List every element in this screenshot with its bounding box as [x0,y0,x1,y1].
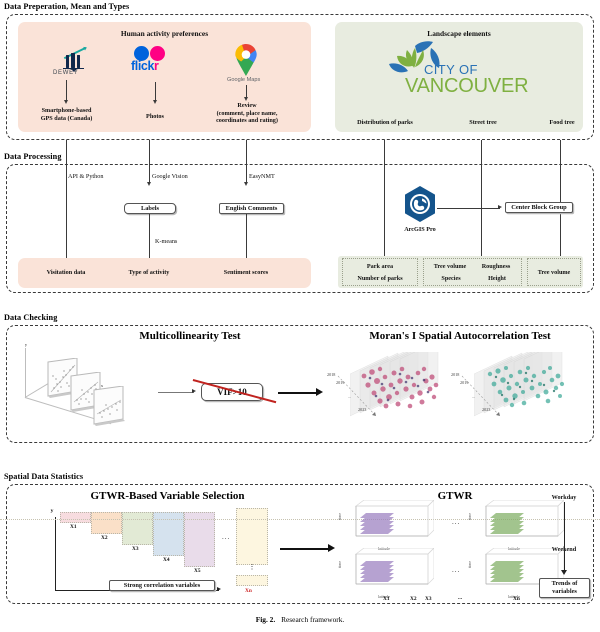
label-height: Height [474,275,520,283]
box-title-landscape-elements: Landscape elements [335,29,583,38]
label-sentiment-scores: Sentiment scores [206,269,286,277]
node-vif-threshold[interactable]: VIF>10 [201,383,263,401]
label-kmeans: K-means [155,238,199,246]
connector-arcgis-to-block-group [437,208,500,209]
node-strong-correlation-variables[interactable]: Strong correlation variables [109,580,215,591]
connector-workday-to-trends [564,502,565,572]
gtwr-column-x3 [122,512,153,545]
label-y-axis: y [48,508,56,516]
label-park-area: Park area [342,263,418,271]
figure-caption: Fig. 2. Research framework. [0,615,600,624]
section-title-data-processing: Data Processing [4,152,62,161]
axis-y-vertical [55,517,56,590]
mc-axis-label-y: y [21,341,31,349]
node-trends-of-variables[interactable]: Trends of variables [539,578,590,598]
gtwr-final-column [236,508,268,565]
gtwr-columns-ellipsis: ... [222,533,230,541]
gtwr-cube-3-axis-time: time [337,561,342,568]
label-tree-volume-street: Tree volume [424,263,476,271]
moran-green-ellipsis: ... [472,394,475,399]
connector-dewey [66,80,67,102]
arrowhead-vif-to-moran [316,388,323,396]
label-type-of-activity: Type of activity [112,269,186,277]
label-distribution-of-parks: Distribution of parks [340,119,430,127]
google-maps-logo-text: Google Maps [227,77,260,83]
section-title-data-checking: Data Checking [4,313,57,322]
connector-selection-to-gtwr [280,548,330,550]
title-multicollinearity-test: Multicollinearity Test [105,330,275,342]
research-framework-figure: Data Preperation, Mean and Types Human a… [0,0,600,632]
gtwr-cube-workday-green [472,500,564,548]
label-street-tree: Street tree [452,119,514,127]
label-method-google-vision: Google Vision [152,173,208,181]
label-food-tree: Food tree [533,119,591,127]
arcgis-pro-logo [404,186,436,222]
connector-vif-to-moran [278,392,318,394]
label-google-maps-output: Review (comment, place name, coordinates… [196,102,298,125]
flickr-logo-text: flickr [131,59,158,73]
section-title-spatial-statistics: Spatial Data Statistics [4,472,83,481]
moran-pink-year-2018: 2018 [327,372,335,377]
dewey-logo-text: DEWEY [53,70,79,76]
gtwr-label-x4: X4 [163,557,170,563]
connector-parks [384,140,385,268]
moran-green-year-2019: 2019 [460,380,468,385]
figure-caption-text: Research framework. [281,615,344,624]
gtwr-cube-workday-purple [342,500,434,548]
gtwr-column-x1 [60,512,91,523]
label-visitation-data: Visitation data [26,269,106,277]
arrowhead-flickr [153,100,157,104]
label-workday: Workday [540,494,588,502]
gtwr-bottom-label-ellipsis: ... [458,595,462,601]
node-center-block-group[interactable]: Center Block Group [505,202,573,213]
moran-pink-year-2023: 2023 [358,407,366,412]
connector-flickr [155,82,156,102]
label-method-easynmt: EasyNMT [249,173,295,181]
gtwr-cube-2-axis-time: time [467,513,472,520]
mc-axis-y [25,348,26,398]
label-dewey-output: Smartphone-based GPS data (Canada) [19,107,114,122]
node-trends-label: Trends of variables [552,580,578,596]
connector-street-tree [481,140,482,268]
arrowhead-to-vif [192,389,196,393]
gtwr-cubes-ellipsis-top: ... [452,518,460,526]
gtwr-bottom-label-x2: X2 [410,596,417,602]
arrowhead-review [244,182,248,186]
mc-scatter-plane-3 [92,386,128,428]
gtwr-cube-weekend-purple [342,548,434,596]
arrowhead-google-maps [244,97,248,101]
city-of-vancouver-text-line2: VANCOUVER [405,75,528,98]
arrowhead-photos [147,182,151,186]
gtwr-bottom-label-x3: X3 [425,596,432,602]
gtwr-label-x3: X3 [132,546,139,552]
arrowhead-trends [561,570,567,575]
gtwr-cubes-ellipsis-bottom: ... [452,566,460,574]
label-tree-volume-food: Tree volume [527,269,581,277]
connector-review [246,140,247,184]
moran-green-year-2018: 2018 [451,372,459,377]
label-species: Species [426,275,476,283]
connector-visitation [66,140,67,268]
label-method-api-python: API & Python [68,173,124,181]
arrowhead-selection-to-gtwr [328,544,335,552]
label-roughness: Roughness [472,263,520,271]
arrowhead-dewey [64,100,68,104]
gtwr-label-x5: X5 [194,568,201,574]
gtwr-vertical-dots: ⋮ [244,564,260,572]
figure-caption-label: Fig. 2. [256,615,276,624]
arrowhead-axis-x [217,587,221,591]
section-title-data-preparation: Data Preperation, Mean and Types [4,2,129,11]
gtwr-column-x2 [91,512,122,534]
connector-photos [149,140,150,184]
gtwr-final-variable-label: Xn [245,588,252,594]
google-maps-logo [233,44,259,76]
gtwr-label-x1: X1 [70,524,77,530]
title-morans-i-test: Moran's I Spatial Autocorrelation Test [330,330,590,342]
arrowhead-block-group [498,205,502,209]
label-number-of-parks: Number of parks [342,275,418,283]
node-english-comments[interactable]: English Comments [219,203,284,214]
gtwr-column-x5 [184,512,215,567]
gtwr-bottom-label-x1: X1 [383,596,390,602]
title-gtwr-variable-selection: GTWR-Based Variable Selection [60,490,275,502]
label-flickr-output: Photos [120,113,190,121]
moran-green-year-2023: 2023 [482,407,490,412]
moran-pink-ellipsis: ... [348,394,351,399]
arcgis-pro-logo-text: ArcGIS Pro [396,226,444,233]
box-title-human-activity: Human activity preferences [18,29,311,38]
gtwr-cube-4-axis-time: time [467,561,472,568]
connector-to-vif [158,392,194,393]
gtwr-bottom-label-xn: Xn [513,596,520,602]
node-labels[interactable]: Labels [124,203,176,214]
gtwr-label-x2: X2 [101,535,108,541]
gtwr-final-column-last-cell [236,575,268,586]
moran-pink-year-2019: 2019 [336,380,344,385]
gtwr-cube-1-axis-time: time [337,513,342,520]
dewey-logo [59,45,93,69]
